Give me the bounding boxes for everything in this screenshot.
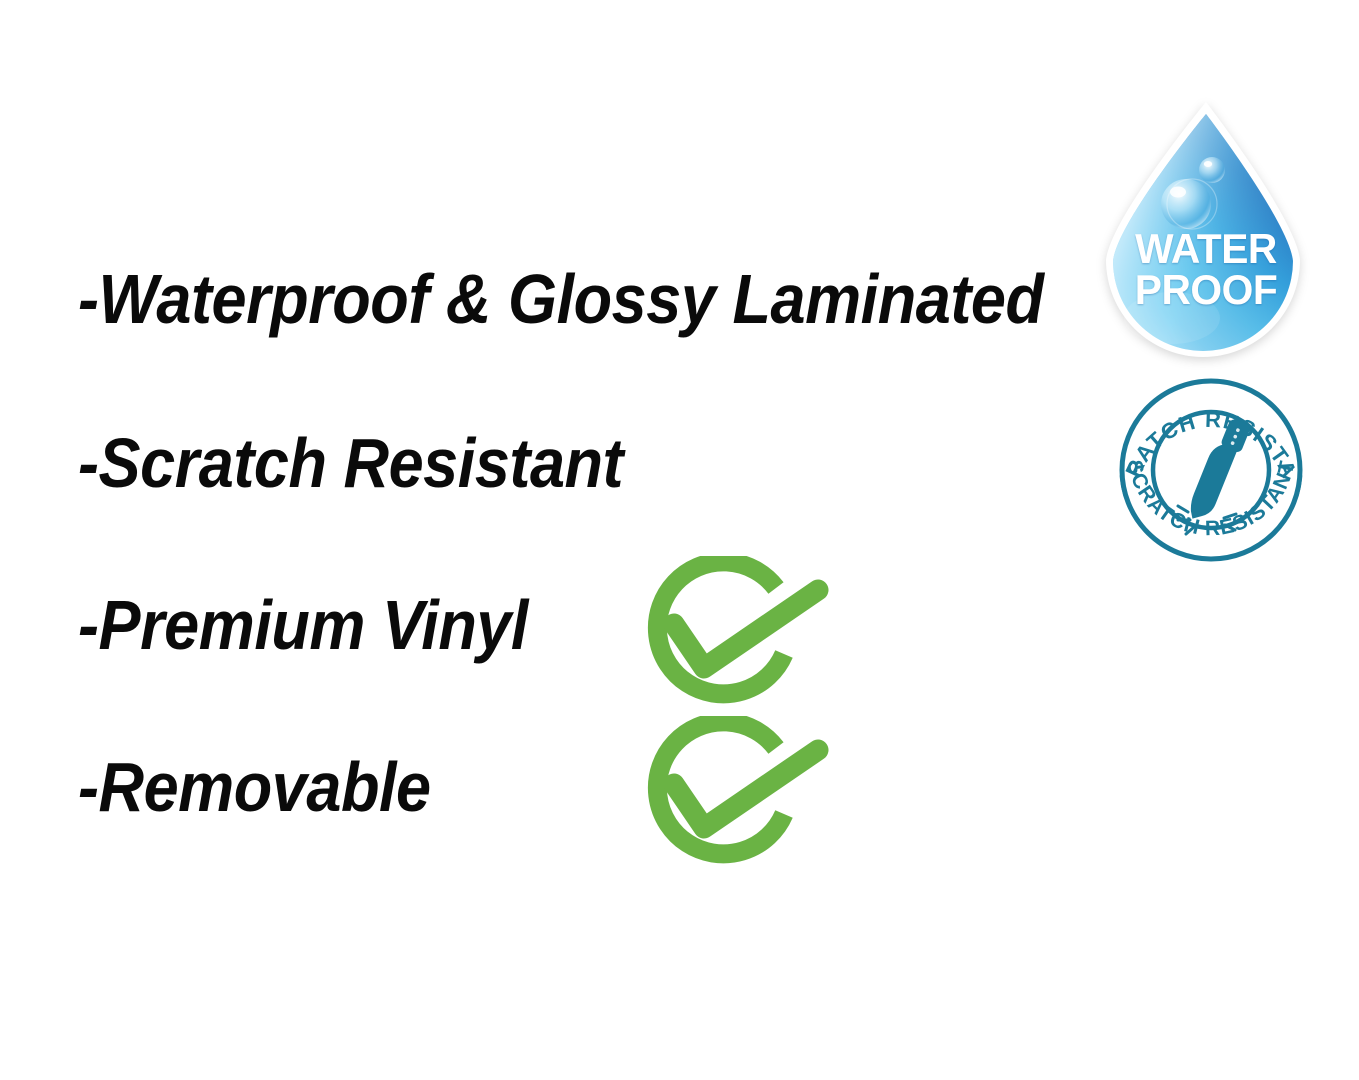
feature-text-premium-vinyl: -Premium Vinyl <box>78 590 528 660</box>
feature-text-scratch-resistant: -Scratch Resistant <box>78 428 623 498</box>
scratch-resistant-badge: SCRATCH RESISTANT SCRATCH RESISTANT <box>1112 378 1310 562</box>
feature-text-waterproof-glossy-laminated: -Waterproof & Glossy Laminated <box>78 264 1044 334</box>
check-circle-icon <box>634 556 840 708</box>
feature-list-graphic: -Waterproof & Glossy Laminated -Scratch … <box>0 0 1359 1080</box>
checkmark-badge-removable <box>634 716 840 868</box>
feature-text-removable: -Removable <box>78 752 431 822</box>
water-drop-icon <box>1100 100 1312 366</box>
knife-stamp-icon: SCRATCH RESISTANT SCRATCH RESISTANT <box>1112 378 1310 562</box>
waterproof-badge: WATER PROOF <box>1100 100 1312 366</box>
checkmark-badge-premium-vinyl <box>634 556 840 708</box>
check-circle-icon <box>634 716 840 868</box>
